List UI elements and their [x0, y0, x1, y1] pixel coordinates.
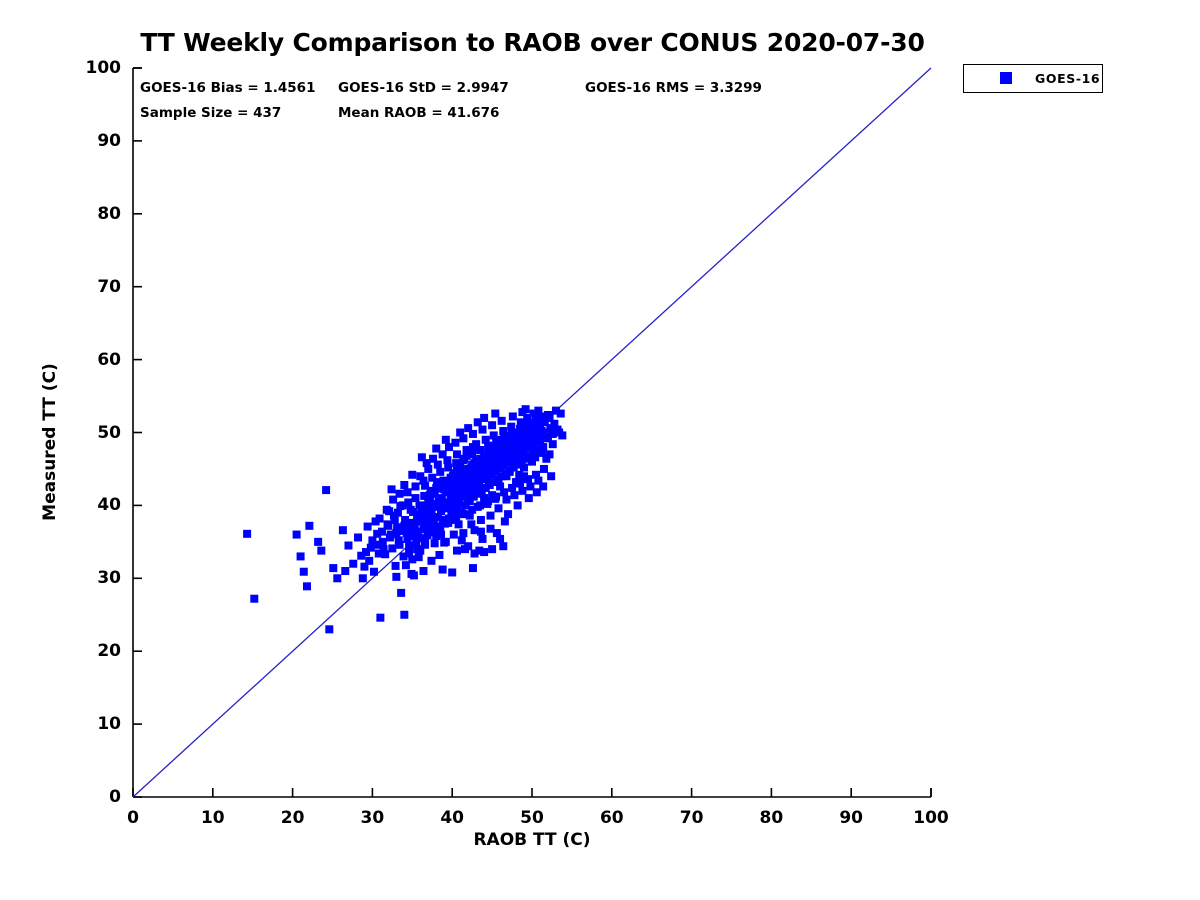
data-point: [464, 424, 472, 432]
data-point: [243, 530, 251, 538]
data-point: [419, 477, 427, 485]
data-point: [372, 517, 380, 525]
data-point: [471, 526, 479, 534]
data-point: [439, 566, 447, 574]
y-tick-label-20: 20: [43, 641, 121, 661]
data-point: [533, 437, 541, 445]
data-point: [388, 544, 396, 552]
data-point: [431, 539, 439, 547]
data-point: [455, 520, 463, 528]
data-point: [362, 548, 370, 556]
data-point: [325, 625, 333, 633]
data-point: [400, 611, 408, 619]
plot-canvas: [0, 0, 1200, 900]
data-point: [514, 501, 522, 509]
data-point: [509, 412, 517, 420]
data-point: [373, 541, 381, 549]
data-point: [344, 541, 352, 549]
data-point: [432, 445, 440, 453]
data-point: [540, 465, 548, 473]
data-point: [507, 423, 515, 431]
data-point: [520, 472, 528, 480]
data-point: [498, 417, 506, 425]
data-point: [453, 547, 461, 555]
data-point: [501, 517, 509, 525]
data-point: [488, 421, 496, 429]
data-point: [300, 568, 308, 576]
data-point: [493, 529, 501, 537]
data-point: [474, 418, 482, 426]
data-point: [536, 421, 544, 429]
data-point: [494, 504, 502, 512]
data-point: [314, 538, 322, 546]
data-point: [469, 443, 477, 451]
data-point: [471, 459, 479, 467]
x-tick-label-0: 0: [127, 808, 139, 828]
data-point: [400, 522, 408, 530]
data-point: [413, 531, 421, 539]
x-axis-label: RAOB TT (C): [133, 830, 931, 850]
x-tick-label-70: 70: [680, 808, 704, 828]
data-point: [531, 429, 539, 437]
data-point: [408, 471, 416, 479]
data-point: [512, 478, 520, 486]
data-point: [479, 535, 487, 543]
data-point: [557, 410, 565, 418]
x-tick-label-90: 90: [839, 808, 863, 828]
data-point: [333, 574, 341, 582]
y-tick-label-90: 90: [43, 131, 121, 151]
data-point: [428, 474, 436, 482]
data-point: [370, 568, 378, 576]
data-point: [404, 535, 412, 543]
data-point: [349, 560, 357, 568]
data-point: [520, 463, 528, 471]
data-point: [407, 506, 415, 514]
data-point: [451, 439, 459, 447]
legend-swatch-goes-16: [1000, 72, 1012, 84]
scatter-plot-figure: TT Weekly Comparison to RAOB over CONUS …: [0, 0, 1200, 900]
data-point: [405, 542, 413, 550]
data-point: [418, 453, 426, 461]
y-tick-label-10: 10: [43, 714, 121, 734]
data-point: [542, 455, 550, 463]
data-point: [456, 488, 464, 496]
x-tick-label-50: 50: [520, 808, 544, 828]
data-point: [525, 494, 533, 502]
data-point: [434, 500, 442, 508]
data-point: [392, 529, 400, 537]
data-point: [392, 562, 400, 570]
data-point: [354, 533, 362, 541]
data-point: [375, 550, 383, 558]
data-point: [427, 557, 435, 565]
data-point: [525, 439, 533, 447]
y-tick-label-80: 80: [43, 204, 121, 224]
data-point: [461, 545, 469, 553]
data-point: [392, 573, 400, 581]
data-point: [475, 484, 483, 492]
x-tick-label-10: 10: [201, 808, 225, 828]
data-point: [378, 528, 386, 536]
data-point: [416, 547, 424, 555]
data-point: [447, 516, 455, 524]
data-point: [502, 496, 510, 504]
data-point: [499, 542, 507, 550]
data-point: [491, 410, 499, 418]
data-point: [388, 485, 396, 493]
data-point: [488, 491, 496, 499]
data-point: [317, 547, 325, 555]
data-point: [475, 547, 483, 555]
data-point: [404, 488, 412, 496]
data-point: [435, 478, 443, 486]
data-point: [547, 472, 555, 480]
data-point: [442, 538, 450, 546]
data-point: [383, 506, 391, 514]
x-tick-label-30: 30: [361, 808, 385, 828]
data-point: [464, 494, 472, 502]
data-point: [400, 481, 408, 489]
data-point: [496, 482, 504, 490]
data-point: [435, 551, 443, 559]
data-point: [410, 571, 418, 579]
data-point: [546, 414, 554, 422]
data-point: [502, 434, 510, 442]
x-tick-label-60: 60: [600, 808, 624, 828]
data-point: [510, 491, 518, 499]
data-point: [303, 582, 311, 590]
data-point: [397, 589, 405, 597]
data-point: [479, 426, 487, 434]
data-point: [427, 509, 435, 517]
data-point: [322, 486, 330, 494]
data-point: [466, 512, 474, 520]
data-point: [394, 509, 402, 517]
data-point: [411, 494, 419, 502]
y-tick-label-0: 0: [43, 787, 121, 807]
data-point: [502, 472, 510, 480]
data-point: [297, 552, 305, 560]
data-point: [365, 557, 373, 565]
data-point: [442, 436, 450, 444]
y-axis-label: Measured TT (C): [40, 242, 60, 642]
data-point: [421, 538, 429, 546]
data-point: [504, 510, 512, 518]
data-point: [305, 522, 313, 530]
data-point: [456, 429, 464, 437]
data-point: [396, 490, 404, 498]
y-tick-label-100: 100: [43, 58, 121, 78]
data-point: [522, 405, 530, 413]
data-point: [436, 468, 444, 476]
data-point: [329, 564, 337, 572]
data-point: [514, 433, 522, 441]
data-point: [408, 555, 416, 563]
data-point: [456, 509, 464, 517]
data-point: [376, 614, 384, 622]
data-point: [341, 567, 349, 575]
data-point: [445, 498, 453, 506]
data-point: [549, 430, 557, 438]
legend-label-goes-16: GOES-16: [1035, 71, 1100, 86]
data-point: [396, 541, 404, 549]
data-point: [490, 431, 498, 439]
data-point: [410, 520, 418, 528]
data-point: [469, 564, 477, 572]
data-point: [293, 531, 301, 539]
x-tick-label-40: 40: [440, 808, 464, 828]
data-point: [474, 503, 482, 511]
data-point: [450, 531, 458, 539]
data-point: [488, 545, 496, 553]
data-point: [518, 487, 526, 495]
data-point: [487, 512, 495, 520]
data-point: [482, 436, 490, 444]
data-point: [436, 523, 444, 531]
x-tick-label-20: 20: [281, 808, 305, 828]
data-point: [448, 568, 456, 576]
data-point: [364, 523, 372, 531]
data-point: [419, 567, 427, 575]
data-point: [339, 526, 347, 534]
data-point: [477, 516, 485, 524]
data-point: [459, 529, 467, 537]
data-points-group: [243, 405, 566, 633]
x-tick-label-80: 80: [760, 808, 784, 828]
data-point: [399, 501, 407, 509]
data-point: [518, 450, 526, 458]
data-point: [411, 482, 419, 490]
data-point: [250, 595, 258, 603]
data-point: [485, 481, 493, 489]
data-point: [480, 494, 488, 502]
data-point: [418, 506, 426, 514]
data-point: [539, 482, 547, 490]
x-tick-label-100: 100: [913, 808, 949, 828]
data-point: [359, 574, 367, 582]
data-point: [437, 531, 445, 539]
